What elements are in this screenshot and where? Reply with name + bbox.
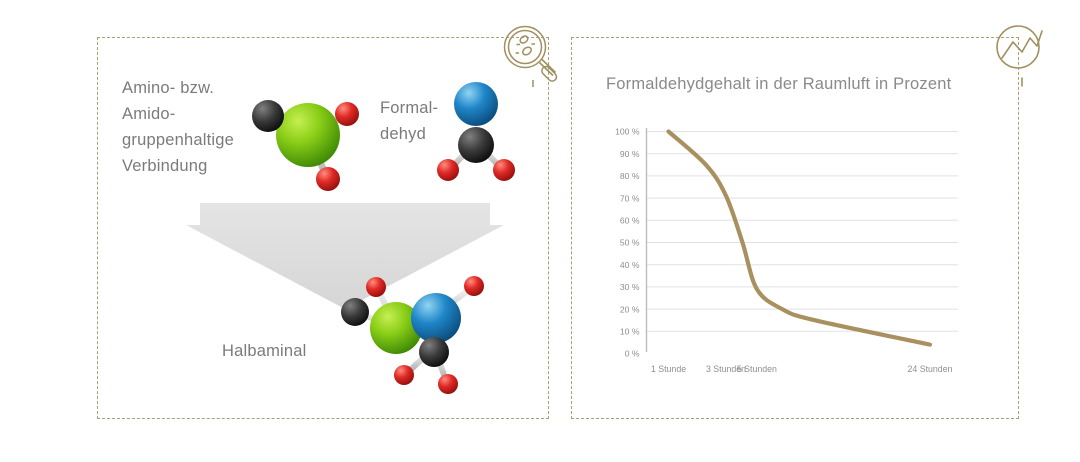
halbaminal-molecule xyxy=(330,276,500,404)
svg-text:70 %: 70 % xyxy=(620,193,640,203)
chart-y-tick-labels: 0 %10 %20 %30 %40 %50 %60 %70 %80 %90 %1… xyxy=(615,127,640,359)
svg-text:80 %: 80 % xyxy=(620,171,640,181)
svg-text:5 Stunden: 5 Stunden xyxy=(737,364,777,374)
chart-x-tick-labels: 1 Stunde3 Stunden5 Stunden24 Stunden xyxy=(651,364,953,374)
chart-data-line xyxy=(669,132,931,345)
svg-text:24 Stunden: 24 Stunden xyxy=(907,364,952,374)
page-root: Amino- bzw. Amido- gruppenhaltige Verbin… xyxy=(0,0,1080,462)
svg-text:100 %: 100 % xyxy=(615,127,640,137)
svg-text:60 %: 60 % xyxy=(620,216,640,226)
trend-chart-circle-icon xyxy=(992,22,1054,88)
svg-text:40 %: 40 % xyxy=(620,260,640,270)
svg-text:50 %: 50 % xyxy=(620,238,640,248)
chart-title: Formaldehydgehalt in der Raumluft in Pro… xyxy=(606,75,951,94)
line-chart: 0 %10 %20 %30 %40 %50 %60 %70 %80 %90 %1… xyxy=(598,118,1002,386)
amino-compound-molecule xyxy=(240,83,372,195)
svg-text:1 Stunde: 1 Stunde xyxy=(651,364,686,374)
svg-text:30 %: 30 % xyxy=(620,282,640,292)
chart-gridlines xyxy=(647,132,959,332)
formaldehyde-molecule xyxy=(437,72,519,187)
svg-text:0 %: 0 % xyxy=(625,349,640,359)
svg-text:20 %: 20 % xyxy=(620,304,640,314)
svg-text:90 %: 90 % xyxy=(620,149,640,159)
svg-text:10 %: 10 % xyxy=(620,327,640,337)
